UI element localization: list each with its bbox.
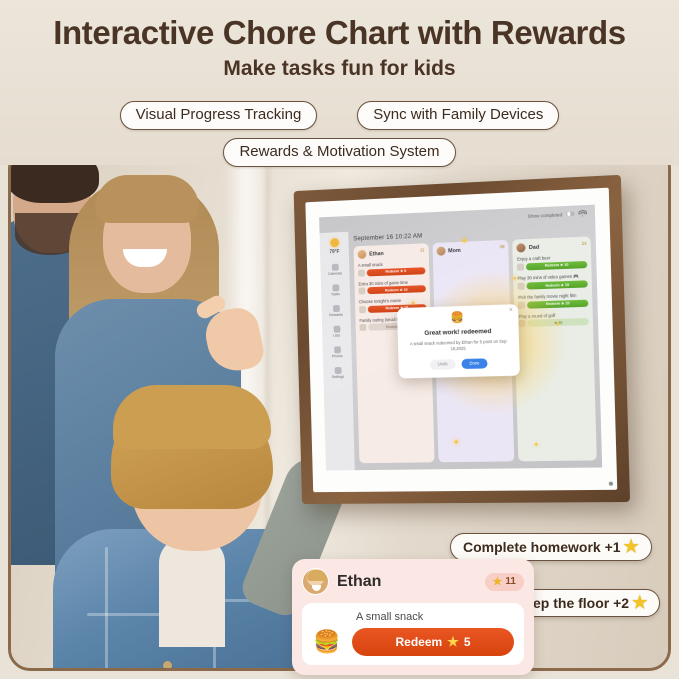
- redeem-button[interactable]: Redeem ★ 20: [527, 299, 588, 308]
- page-title: Interactive Chore Chart with Rewards: [0, 14, 679, 52]
- done-button[interactable]: Done: [461, 358, 487, 369]
- list-icon: [333, 326, 340, 333]
- member-name: Mom: [448, 247, 461, 254]
- sidebar-label: Tasks: [331, 292, 340, 296]
- reward-card-header: Ethan ★ 11: [302, 568, 524, 595]
- calendar-icon: [331, 264, 338, 271]
- redeem-button[interactable]: Redeem ★ 10: [367, 285, 425, 294]
- modal-title: Great work! redeemed: [405, 328, 510, 338]
- callout-complete-homework[interactable]: Complete homework +1 ★: [450, 533, 652, 561]
- star-count-mom: 08: [500, 244, 505, 249]
- task-item[interactable]: Play a round of golf ★ 30: [519, 311, 589, 327]
- checklist-icon: [332, 284, 339, 291]
- sidebar-item-tasks[interactable]: Tasks: [321, 284, 350, 297]
- star-icon: [333, 305, 340, 312]
- feature-pill-row-1: Visual Progress Tracking Sync with Famil…: [0, 101, 679, 130]
- star-icon: ★: [624, 538, 639, 555]
- redeem-button[interactable]: Redeem ★ 15: [527, 280, 588, 289]
- reward-emoji: 🍔: [405, 311, 510, 325]
- task-icon: [518, 301, 525, 308]
- device-screen[interactable]: Show completed 79°F Calendar: [319, 205, 602, 471]
- reward-card-name: Ethan: [337, 573, 381, 591]
- modal-body: A small snack redeemed by Ethan for 5 po…: [406, 339, 512, 355]
- star-count-ethan: 11: [420, 247, 425, 252]
- show-completed-toggle[interactable]: [566, 211, 574, 216]
- member-name: Dad: [529, 244, 539, 250]
- task-item[interactable]: Enjoy a craft beer Redeem ★ 10: [517, 254, 587, 270]
- star-balance-count: 11: [505, 576, 516, 587]
- column-header: Mom: [436, 244, 505, 256]
- task-icon: [519, 320, 526, 327]
- ethan-avatar: [302, 568, 329, 595]
- star-icon: ★: [447, 634, 459, 650]
- task-icon: [359, 287, 366, 294]
- task-icon: [358, 269, 365, 276]
- star-icon: ★: [632, 594, 647, 611]
- column-header: Ethan: [357, 247, 424, 259]
- task-icon: [360, 324, 367, 331]
- sidebar-label: Calendar: [328, 271, 342, 275]
- task-item[interactable]: Extra 30 mins of game time Redeem ★ 10: [358, 279, 425, 295]
- wall-mounted-display-frame: Show completed 79°F Calendar: [294, 175, 630, 504]
- redeem-label: Redeem: [395, 635, 442, 649]
- redeem-button[interactable]: ★ 30: [528, 318, 589, 327]
- feature-pill-rewards-system[interactable]: Rewards & Motivation System: [223, 138, 455, 167]
- star-balance-badge: ★ 11: [485, 573, 524, 591]
- gear-icon: [334, 367, 341, 374]
- sidebar-label: Rewards: [329, 313, 343, 317]
- mother-bangs: [95, 175, 199, 223]
- task-icon: [359, 306, 366, 313]
- task-item[interactable]: Pick the family movie night film Redeem …: [518, 293, 588, 309]
- photo-icon: [334, 346, 341, 353]
- sidebar-label: Lists: [333, 334, 340, 338]
- power-indicator: [609, 482, 613, 486]
- feature-pill-row-2: Rewards & Motivation System: [0, 138, 679, 167]
- sidebar-item-rewards[interactable]: Rewards: [322, 305, 351, 318]
- sidebar-label: Settings: [332, 375, 345, 379]
- modal-actions: Undo Done: [406, 357, 511, 370]
- reward-card-body: A small snack 🍔 Redeem ★ 5: [302, 603, 524, 665]
- sidebar-item-calendar[interactable]: Calendar: [320, 263, 349, 276]
- star-icon: ★: [493, 575, 503, 588]
- redeem-confirmation-modal: ✕ 🍔 Great work! redeemed A small snack r…: [397, 304, 520, 378]
- member-column-dad: 24 Dad Enjoy a craft beer Redeem ★ 10: [512, 236, 596, 461]
- wifi-icon: [578, 210, 586, 216]
- temperature-label: 79°F: [320, 249, 349, 256]
- display-mat: Show completed 79°F Calendar: [305, 188, 617, 493]
- avatar: [517, 243, 526, 252]
- ethan-reward-card: Ethan ★ 11 A small snack 🍔 Redeem ★ 5: [292, 559, 534, 675]
- feature-pill-sync-devices[interactable]: Sync with Family Devices: [357, 101, 559, 130]
- redeem-button[interactable]: Redeem ★ 10: [526, 260, 587, 269]
- star-count-dad: 24: [582, 241, 587, 246]
- reward-item-row: 🍔 Redeem ★ 5: [312, 628, 514, 656]
- burger-icon: 🍔: [312, 631, 342, 653]
- member-name: Ethan: [369, 251, 384, 258]
- redeem-button[interactable]: Redeem ★ 5: [352, 628, 514, 656]
- feature-pill-visual-progress[interactable]: Visual Progress Tracking: [120, 101, 318, 130]
- task-icon: [517, 263, 524, 270]
- column-header: Dad: [517, 241, 587, 253]
- sidebar-item-lists[interactable]: Lists: [322, 325, 351, 338]
- sun-icon: [330, 238, 339, 247]
- sidebar-item-photos[interactable]: Photos: [323, 346, 352, 359]
- page-subtitle: Make tasks fun for kids: [0, 57, 679, 81]
- reward-item-label: A small snack: [356, 611, 514, 623]
- close-icon[interactable]: ✕: [509, 307, 513, 313]
- redeem-button[interactable]: Redeem ★ 5: [367, 267, 425, 276]
- avatar: [357, 250, 366, 259]
- avatar: [436, 246, 445, 255]
- task-item[interactable]: A small snack Redeem ★ 5: [358, 260, 425, 276]
- boy-fringe: [113, 385, 271, 449]
- undo-button[interactable]: Undo: [430, 359, 456, 370]
- show-completed-label: Show completed: [528, 212, 563, 219]
- task-item[interactable]: Play 30 mins of video games 🎮 Redeem ★ 1…: [518, 273, 588, 290]
- task-icon: [518, 283, 525, 290]
- sidebar-label: Photos: [332, 354, 343, 358]
- boy-tshirt: [159, 537, 225, 647]
- callout-text: Complete homework +1: [463, 539, 621, 555]
- page-root: Show completed 79°F Calendar: [0, 0, 679, 679]
- sidebar-item-settings[interactable]: Settings: [323, 367, 352, 380]
- redeem-cost: 5: [464, 635, 471, 649]
- header: Interactive Chore Chart with Rewards Mak…: [0, 0, 679, 165]
